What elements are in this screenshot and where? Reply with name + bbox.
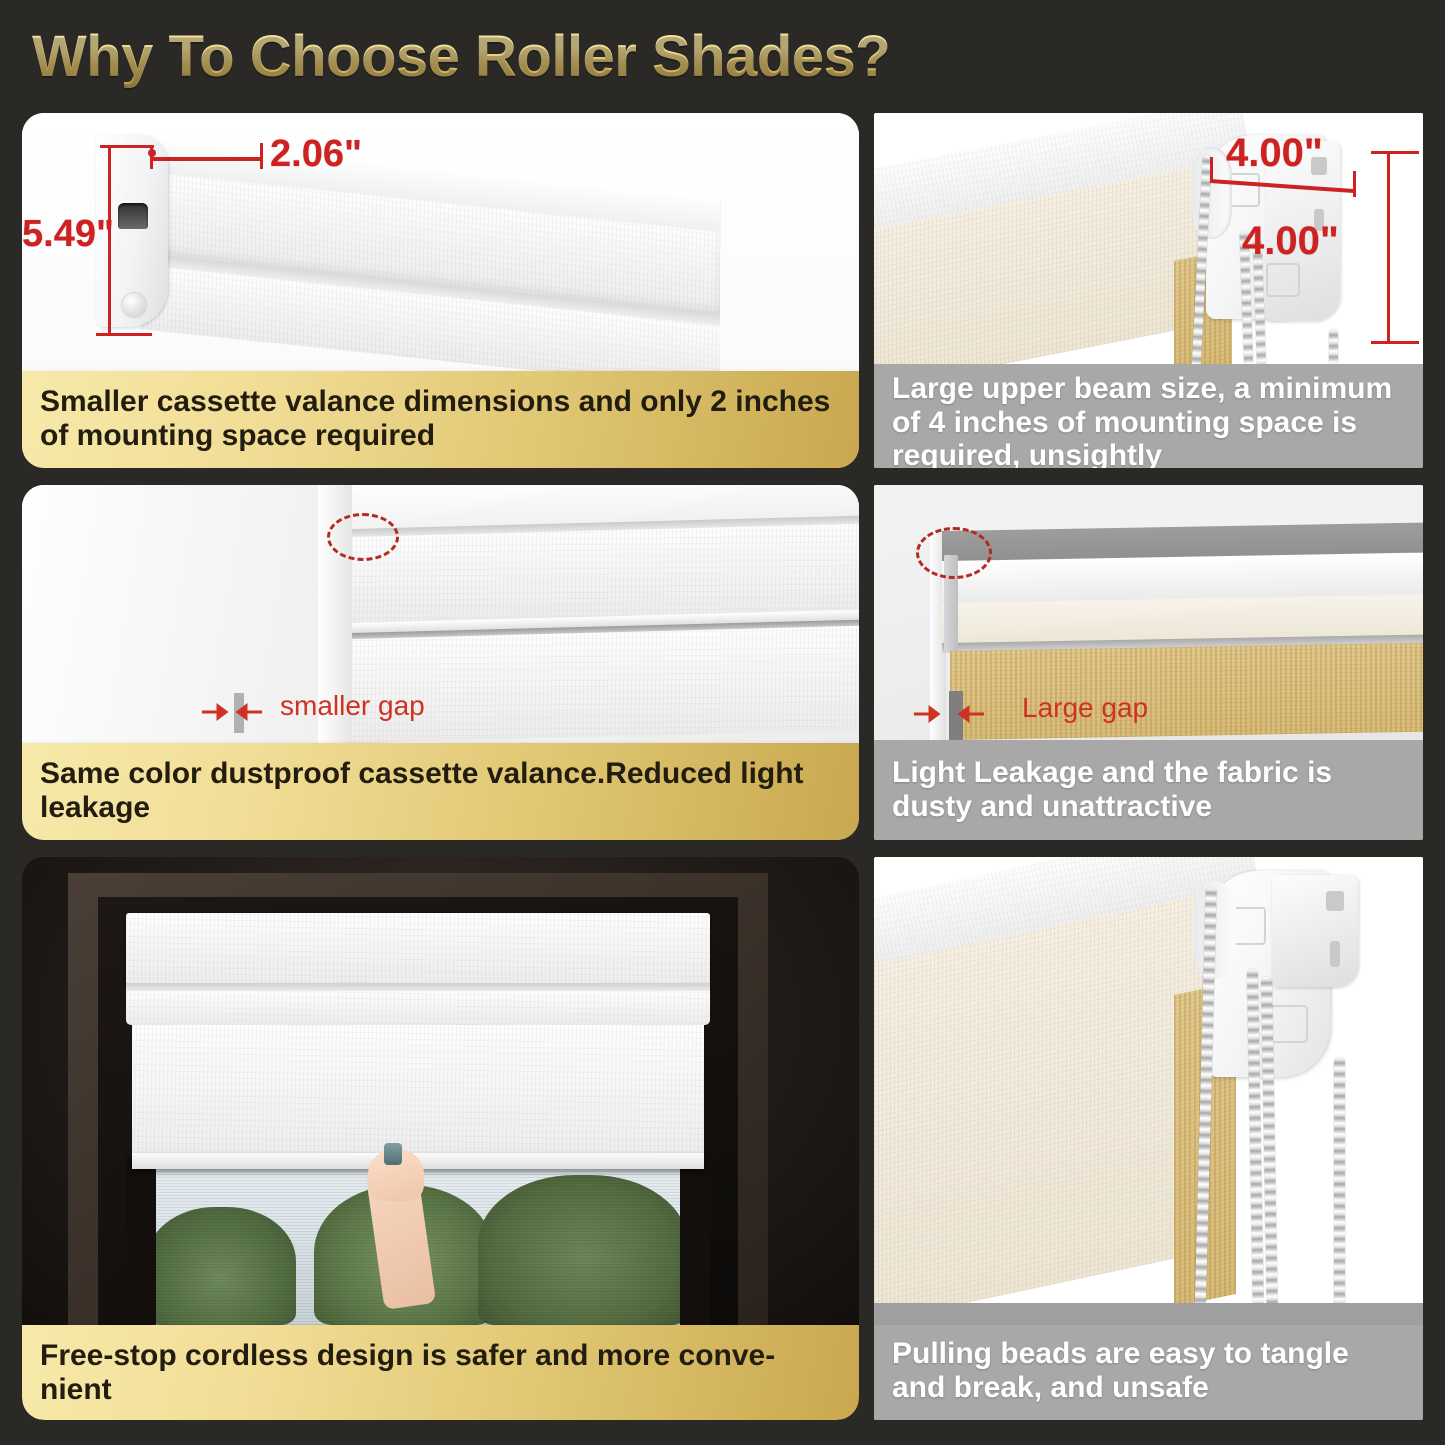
bracket-width-tick-left: [1210, 157, 1213, 183]
bracket-height-tick-bottom: [1371, 341, 1419, 344]
smaller-gap-label: smaller gap: [280, 690, 425, 722]
bracket-width-label: 4.00": [1226, 131, 1323, 176]
window-mullion-left: [126, 1157, 156, 1325]
bracket-height-tick-top: [1371, 151, 1419, 154]
window-mullion-right: [680, 1157, 710, 1325]
panel-top-left-caption: Smaller cassette valance dimensions and …: [22, 371, 859, 468]
panel-top-left[interactable]: 2.06" 5.49" Smaller cassette valance dim…: [22, 113, 859, 468]
bracket-height-dim-line: [1387, 151, 1390, 343]
panel-bottom-right-image: [874, 857, 1423, 1325]
width-dim-line: [150, 157, 262, 161]
end-cap-slot: [118, 203, 148, 229]
panel-bottom-right-caption: Pulling beads are easy to tangle and bre…: [874, 1325, 1423, 1420]
panel-top-right-image: 4.00" 4.00": [874, 113, 1423, 375]
gap-highlight-ellipse: [327, 513, 399, 561]
bracket-slot-bottom-bottom-right: [1330, 941, 1340, 967]
bracket-height-label: 4.00": [1242, 219, 1339, 264]
panel-bottom-left-caption: Free-stop cordless design is safer and m…: [22, 1325, 859, 1420]
panel-middle-left-caption: Same color dustproof cassette valance.Re…: [22, 743, 859, 840]
width-dim-tick-right: [260, 143, 263, 169]
panel-top-right-caption: Large upper beam size, a minimum of 4 in…: [874, 364, 1423, 468]
bracket-emblem-bottom-bottom-right: [1270, 1005, 1308, 1043]
large-gap-label: Large gap: [1022, 692, 1148, 724]
panel-bottom-left[interactable]: Free-stop cordless design is safer and m…: [22, 857, 859, 1420]
valance-lower-lip-bottom-left: [126, 991, 710, 1025]
panel-middle-right[interactable]: Large gap Light Leakage and the fabric i…: [874, 485, 1423, 840]
shade-fabric-bottom-left: [132, 1025, 704, 1167]
cassette-valance-bottom-left: [126, 913, 710, 985]
height-dim-tick-bottom: [96, 333, 152, 336]
width-dimension-label: 2.06": [270, 133, 362, 176]
pull-tab: [384, 1143, 402, 1165]
floor-strip: [874, 1303, 1423, 1325]
shade-fabric-white: [352, 626, 859, 743]
panel-bottom-left-image: [22, 857, 859, 1325]
bracket-mounting-plate-bottom-right: [1272, 875, 1358, 987]
cassette-valance-face: [352, 524, 859, 625]
panel-middle-left[interactable]: smaller gap Same color dustproof cassett…: [22, 485, 859, 840]
panel-top-left-image: 2.06" 5.49": [22, 113, 859, 371]
height-dimension-label: 5.49": [22, 213, 114, 256]
height-dim-tick-top: [100, 145, 154, 148]
bracket-slot-top-bottom-right: [1326, 891, 1344, 911]
bracket-emblem-bottom: [1266, 263, 1300, 297]
panel-top-right[interactable]: 4.00" 4.00" Large upper beam size, a min…: [874, 113, 1423, 468]
gap-highlight-ellipse-right: [916, 527, 992, 579]
end-cap-screw: [122, 293, 146, 317]
panel-middle-right-caption: Light Leakage and the fabric is dusty an…: [874, 740, 1423, 840]
comparison-grid: 2.06" 5.49" Smaller cassette valance dim…: [0, 0, 1445, 1445]
panel-middle-right-image: Large gap: [874, 485, 1423, 740]
bead-chain-long-4: [1334, 1057, 1345, 1325]
width-dim-tick-left: [150, 145, 153, 169]
panel-bottom-right[interactable]: Pulling beads are easy to tangle and bre…: [874, 857, 1423, 1420]
bracket-width-tick-right: [1353, 171, 1356, 197]
panel-middle-left-image: smaller gap: [22, 485, 859, 743]
